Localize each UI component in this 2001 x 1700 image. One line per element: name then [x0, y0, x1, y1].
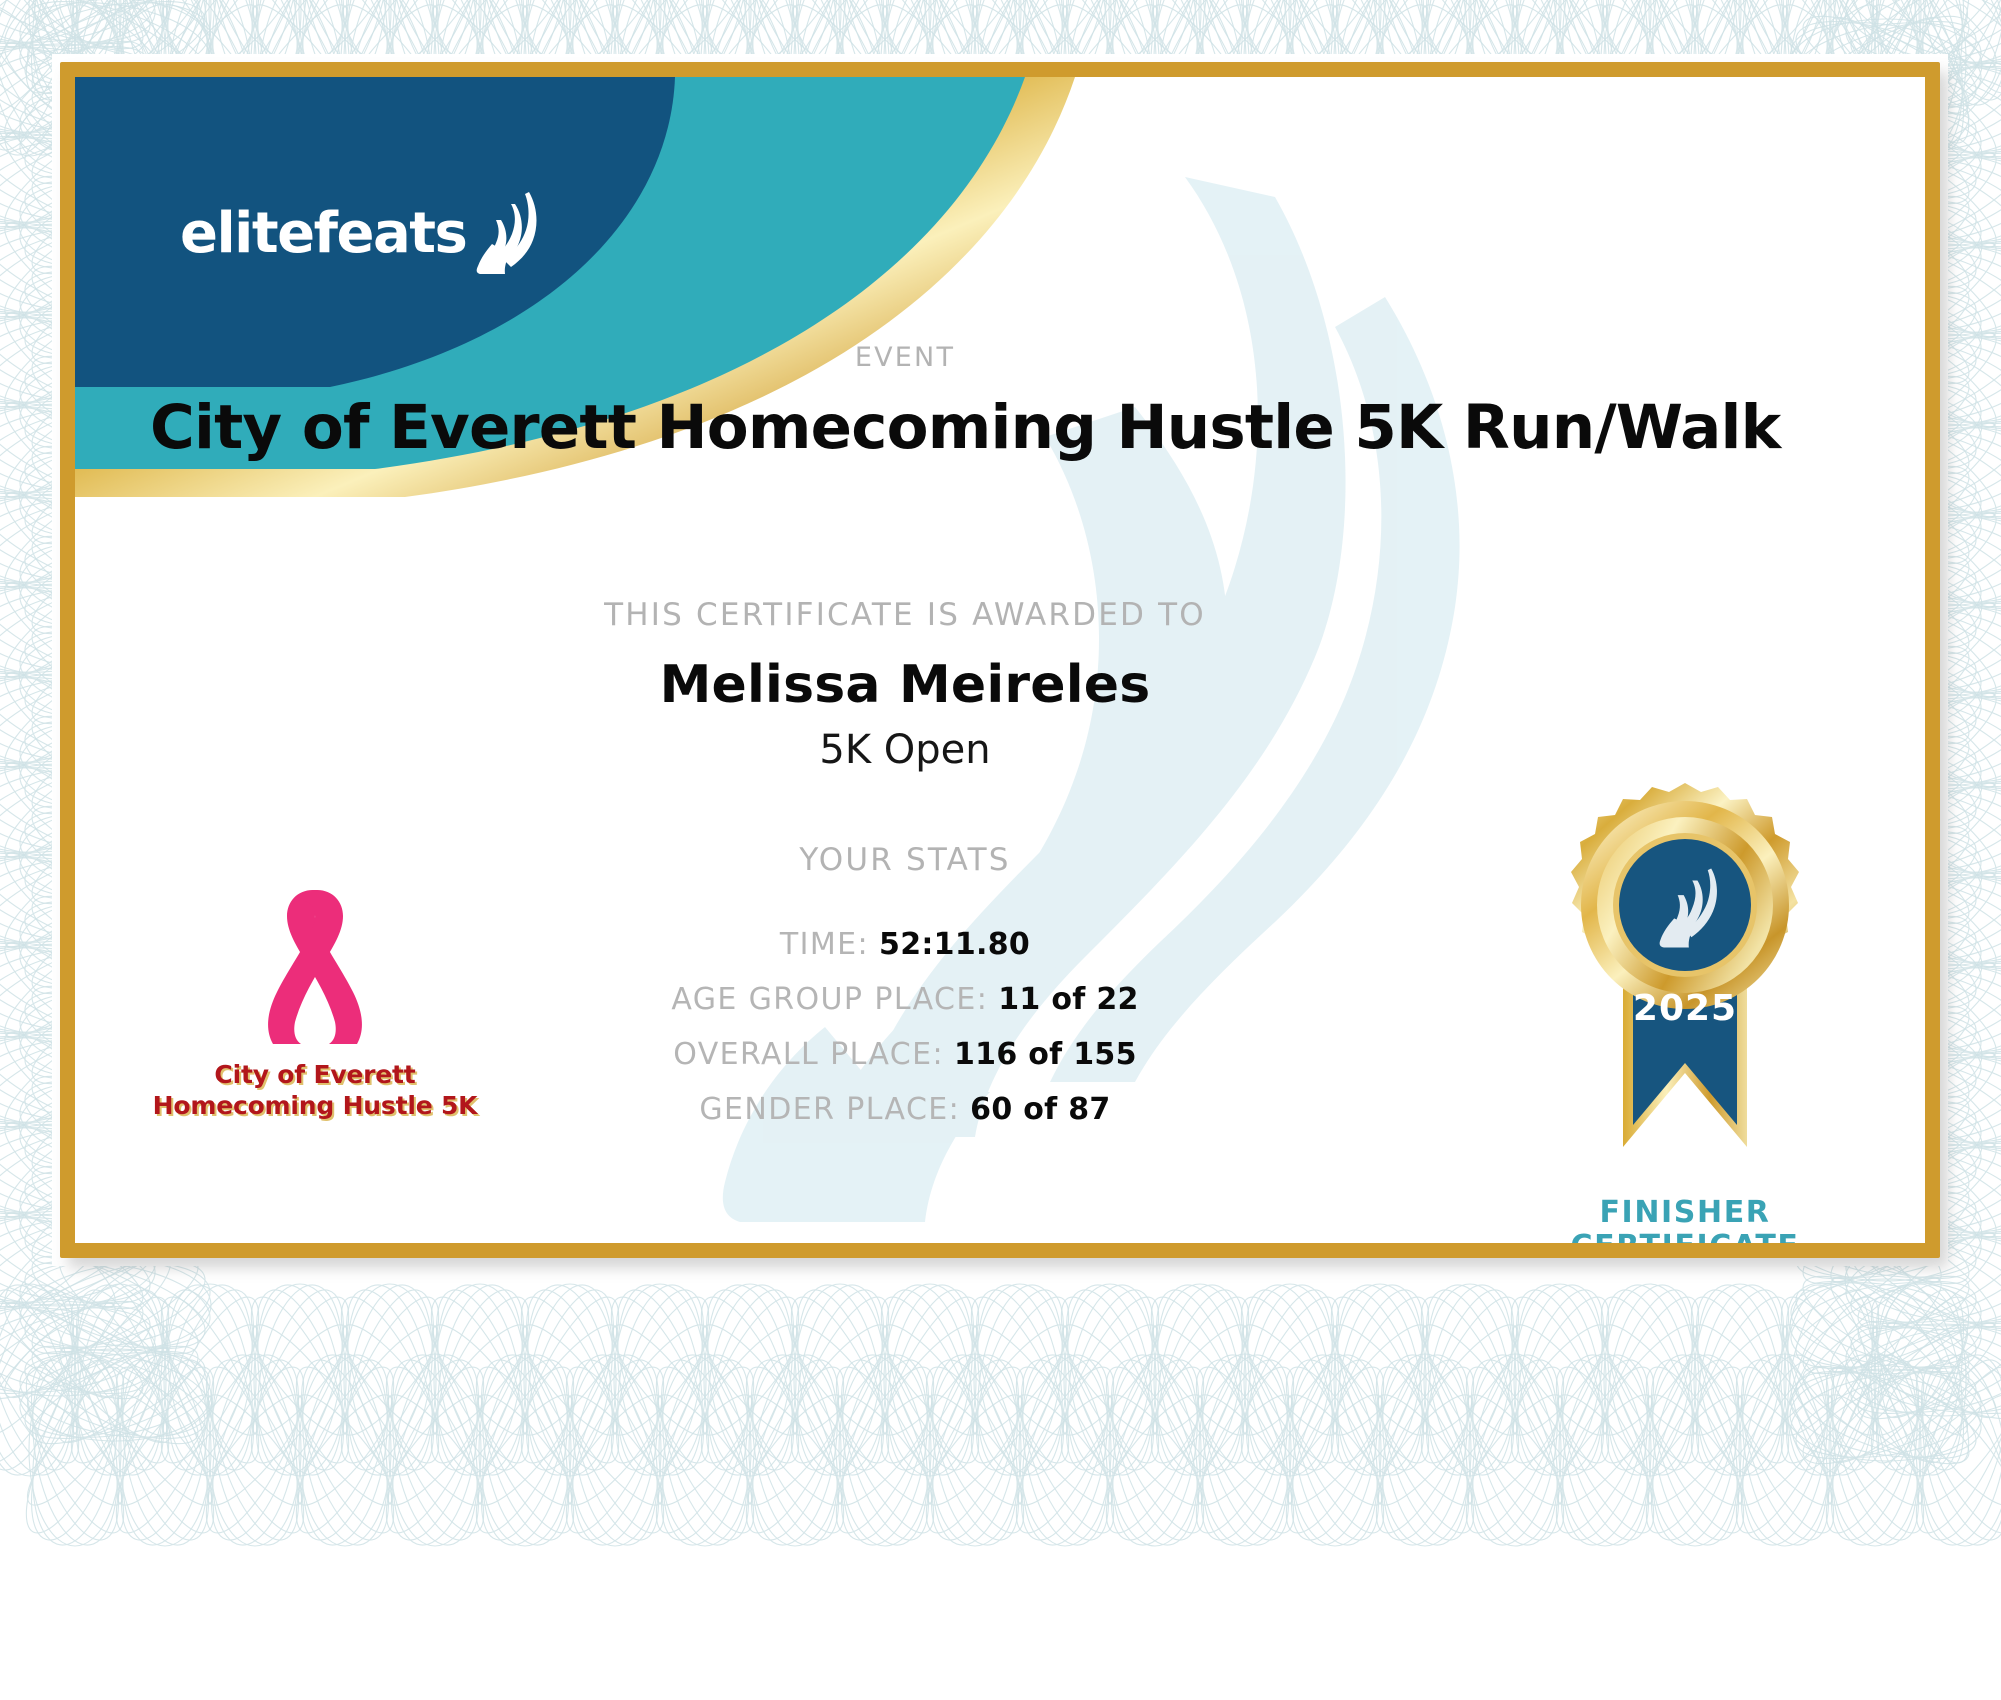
pink-awareness-ribbon-icon — [225, 882, 405, 1052]
finisher-medal: 2025 FINISHER CERTIFICATE — [1505, 777, 1865, 1243]
event-label: EVENT — [150, 342, 1660, 373]
recipient-name: Melissa Meireles — [150, 655, 1660, 715]
medal-caption-line2: CERTIFICATE — [1505, 1230, 1865, 1243]
stat-key-age-group-place: AGE GROUP PLACE: — [671, 972, 988, 1027]
certificate-page: elitefeats EVENT City of Everett Homecom… — [0, 0, 2001, 1700]
stat-value-age-group-place: 11 of 22 — [998, 972, 1138, 1027]
event-logo: City of Everett Homecoming Hustle 5K — [145, 882, 485, 1121]
your-stats-label: YOUR STATS — [150, 842, 1660, 878]
winged-foot-icon — [471, 190, 549, 276]
event-logo-text: City of Everett Homecoming Hustle 5K — [145, 1060, 485, 1121]
stat-value-time: 52:11.80 — [879, 917, 1030, 972]
elitefeats-logo: elitefeats — [180, 190, 549, 262]
elitefeats-logo-text: elitefeats — [180, 206, 466, 262]
event-title: City of Everett Homecoming Hustle 5K Run… — [150, 392, 1660, 463]
division-label: 5K Open — [150, 727, 1660, 773]
medal-year: 2025 — [1633, 988, 1737, 1029]
stat-key-gender-place: GENDER PLACE: — [699, 1082, 960, 1137]
stat-key-time: TIME: — [780, 917, 869, 972]
event-logo-line2: Homecoming Hustle 5K — [145, 1091, 485, 1122]
awarded-to-label: THIS CERTIFICATE IS AWARDED TO — [150, 597, 1660, 633]
stat-value-overall-place: 116 of 155 — [954, 1027, 1137, 1082]
medal-graphic: 2025 — [1565, 777, 1805, 1187]
stat-key-overall-place: OVERALL PLACE: — [673, 1027, 944, 1082]
medal-caption-line1: FINISHER — [1505, 1196, 1865, 1230]
medal-caption: FINISHER CERTIFICATE — [1505, 1196, 1865, 1243]
stat-value-gender-place: 60 of 87 — [970, 1082, 1110, 1137]
certificate-card: elitefeats EVENT City of Everett Homecom… — [75, 77, 1925, 1243]
event-logo-line1: City of Everett — [145, 1060, 485, 1091]
